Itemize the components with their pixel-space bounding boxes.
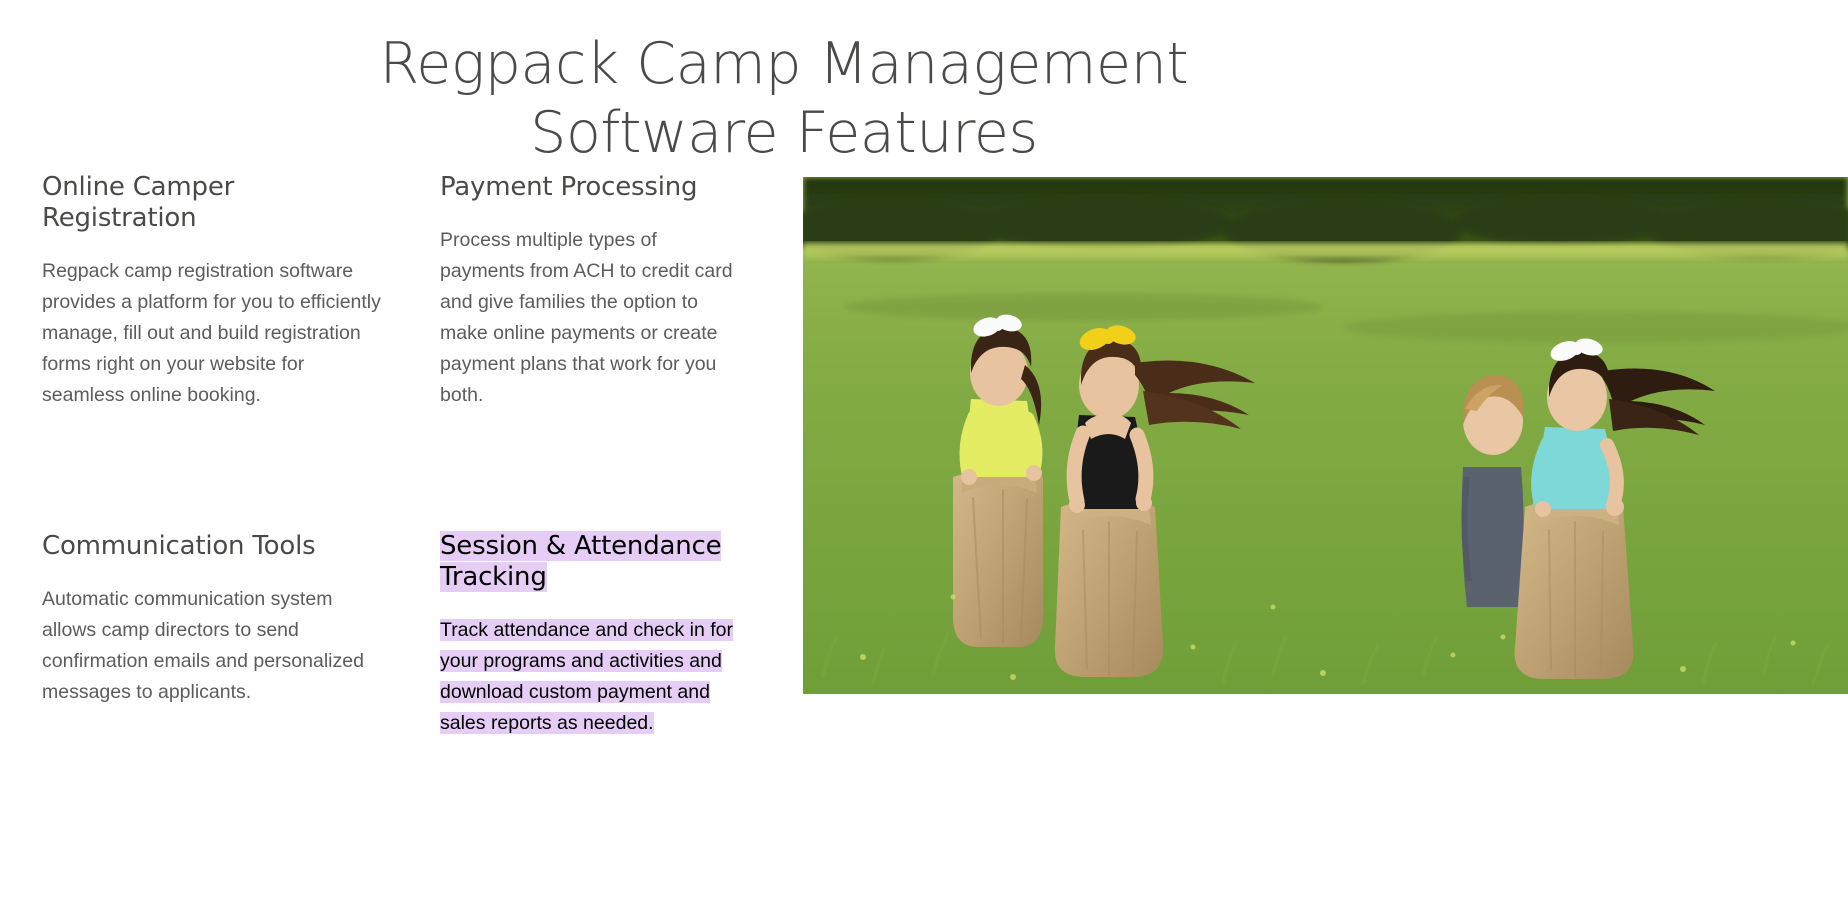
feature-title: Session & Attendance Tracking: [440, 531, 740, 593]
children-sack-race-photo: [803, 177, 1848, 694]
feature-payment-processing: Payment Processing Process multiple type…: [440, 172, 740, 411]
highlighted-body-text: Track attendance and check in for your p…: [440, 619, 733, 734]
feature-column-middle: Payment Processing Process multiple type…: [440, 172, 740, 739]
row-spacer: [440, 473, 740, 531]
photo-illustration: [803, 177, 1848, 694]
child-grey-shirt-boy: [1462, 375, 1524, 607]
feature-body: Automatic communication system allows ca…: [42, 584, 382, 708]
feature-body: Process multiple types of payments from …: [440, 225, 740, 411]
feature-page: Regpack Camp Management Software Feature…: [0, 0, 1848, 902]
highlighted-title-text: Session & Attendance Tracking: [440, 531, 721, 592]
feature-session-attendance-tracking: Session & Attendance Tracking Track atte…: [440, 531, 740, 739]
row-spacer: [42, 473, 382, 531]
feature-title: Online Camper Registration: [42, 172, 382, 234]
feature-communication-tools: Communication Tools Automatic communicat…: [42, 531, 382, 708]
feature-title: Payment Processing: [440, 172, 740, 203]
feature-online-camper-registration: Online Camper Registration Regpack camp …: [42, 172, 382, 411]
feature-title: Communication Tools: [42, 531, 382, 562]
page-title: Regpack Camp Management Software Feature…: [288, 30, 1280, 168]
feature-body: Track attendance and check in for your p…: [440, 615, 740, 739]
feature-body: Regpack camp registration software provi…: [42, 256, 382, 411]
feature-column-left: Online Camper Registration Regpack camp …: [42, 172, 382, 739]
